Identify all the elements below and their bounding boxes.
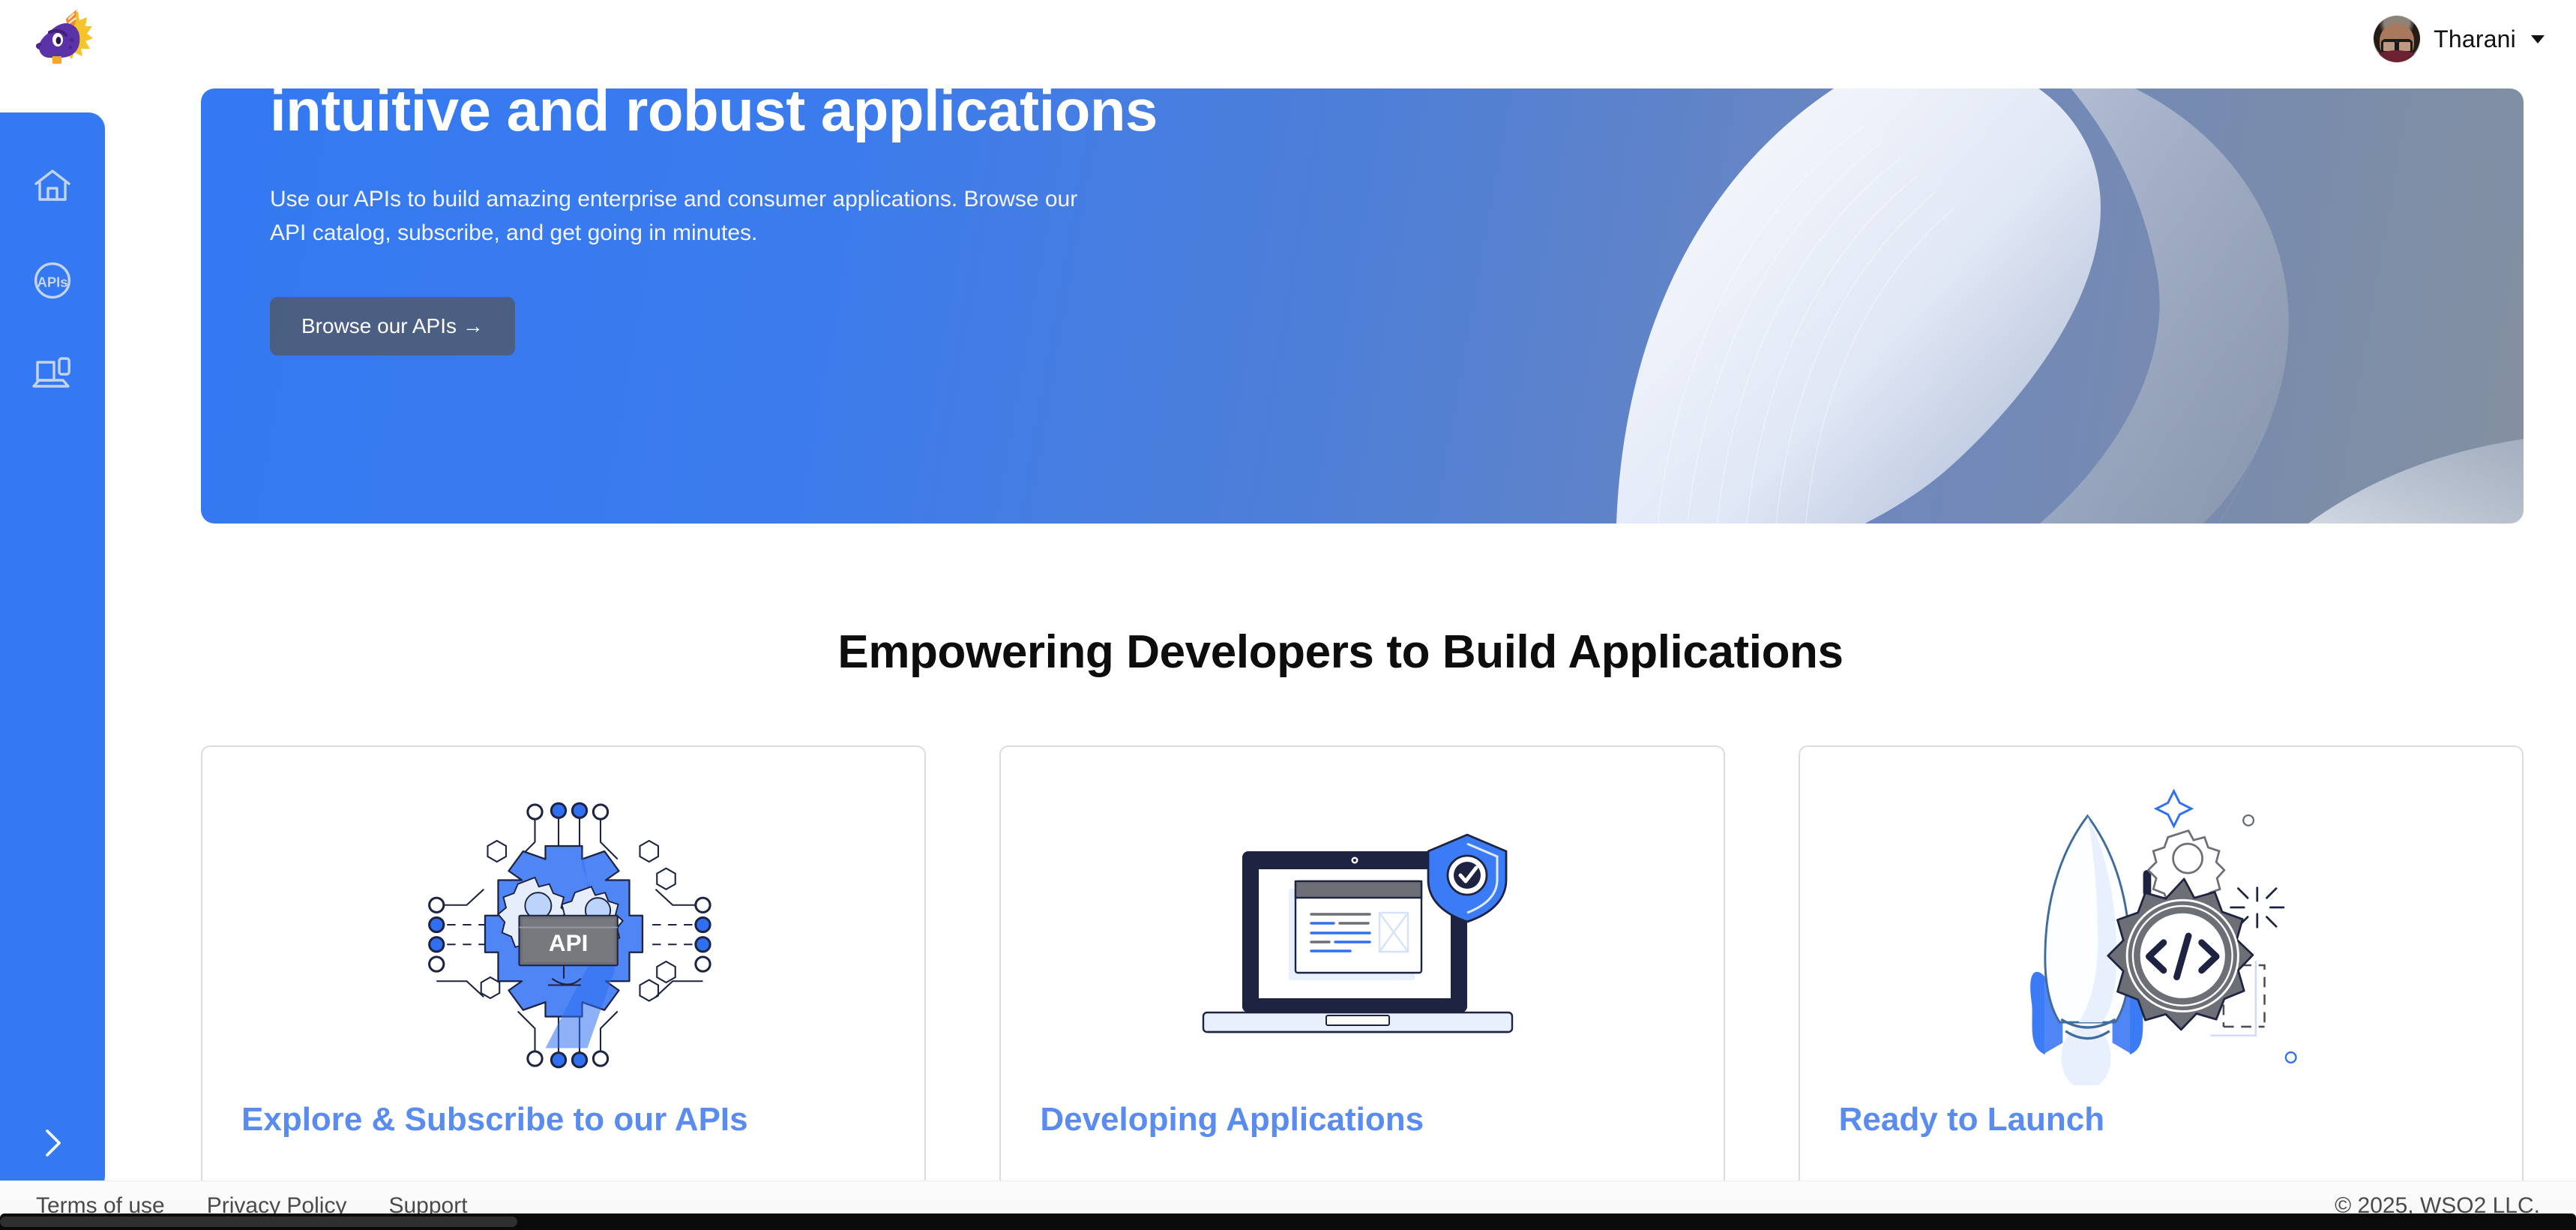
card-title: Ready to Launch	[1800, 1101, 2522, 1138]
hero-banner: intuitive and robust applications Use ou…	[201, 88, 2524, 523]
sidebar-item-home[interactable]	[0, 151, 105, 220]
laptop-shield-illustration	[1197, 774, 1527, 1096]
card-title: Developing Applications	[1001, 1101, 1723, 1138]
card-developing-applications[interactable]: Developing Applications	[999, 745, 1724, 1225]
dragon-logo-icon	[33, 10, 96, 68]
sidebar-expand-button[interactable]	[0, 1114, 105, 1174]
svg-text:APIs: APIs	[37, 274, 68, 289]
sidebar-item-applications[interactable]	[0, 340, 105, 409]
svg-text:API: API	[549, 929, 589, 956]
left-sidebar: APIs	[0, 112, 105, 1192]
chevron-down-icon	[2531, 35, 2545, 43]
horizontal-scrollbar[interactable]	[0, 1213, 2576, 1230]
sidebar-item-apis[interactable]: APIs	[0, 246, 105, 315]
rocket-code-gear-illustration	[1999, 774, 2322, 1096]
chevron-right-icon	[40, 1125, 65, 1165]
hero-subtitle-line-2: API catalog, subscribe, and get going in…	[270, 220, 757, 245]
user-menu[interactable]: Tharani	[2374, 12, 2545, 66]
hero-subtitle: Use our APIs to build amazing enterprise…	[270, 182, 1207, 250]
user-name: Tharani	[2434, 25, 2516, 53]
app-header: Tharani	[0, 0, 2576, 78]
applications-icon	[31, 355, 73, 394]
scrollbar-thumb[interactable]	[0, 1216, 517, 1227]
card-ready-to-launch[interactable]: Ready to Launch	[1799, 745, 2524, 1225]
hero-subtitle-line-1: Use our APIs to build amazing enterprise…	[270, 187, 1077, 211]
main-content: intuitive and robust applications Use ou…	[105, 78, 2576, 1180]
section-heading: Empowering Developers to Build Applicati…	[105, 625, 2576, 679]
feature-cards: API	[201, 745, 2524, 1225]
apis-icon: APIs	[31, 259, 73, 301]
abstract-ribbon-graphic	[1579, 88, 2524, 523]
dragon-logo[interactable]	[31, 7, 97, 70]
card-title: Explore & Subscribe to our APIs	[202, 1101, 924, 1138]
browse-apis-button[interactable]: Browse our APIs →	[270, 297, 515, 355]
api-gear-network-illustration: API	[406, 774, 721, 1096]
card-explore-subscribe[interactable]: API	[201, 745, 926, 1225]
home-icon	[31, 166, 73, 205]
avatar	[2374, 16, 2420, 62]
hero-title: intuitive and robust applications	[270, 88, 1619, 142]
